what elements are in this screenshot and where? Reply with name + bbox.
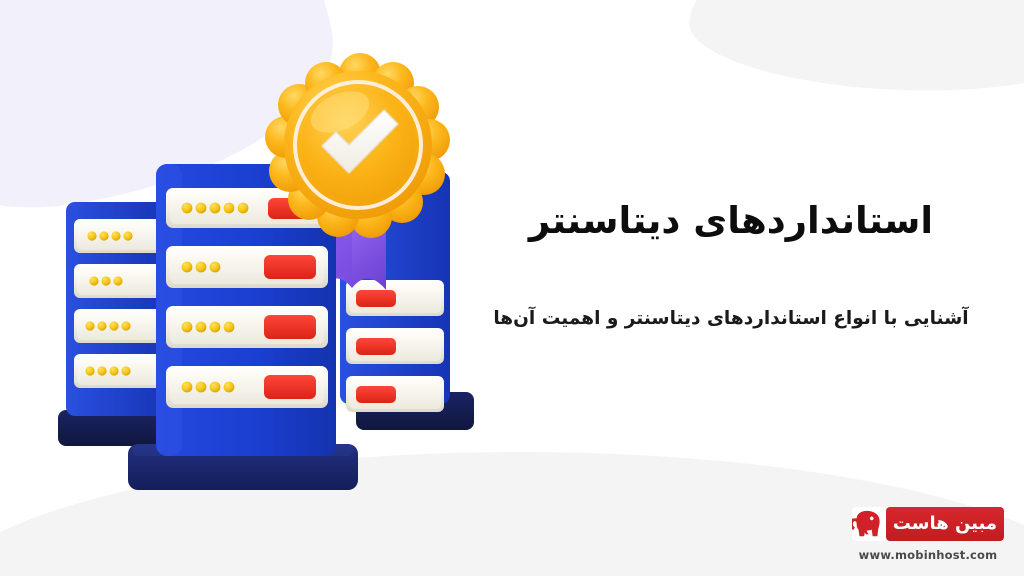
banner-canvas: استانداردهای دیتاسنتر آشنایی با انواع اس… bbox=[0, 0, 1024, 576]
page-subtitle: آشنایی با انواع استانداردهای دیتاسنتر و … bbox=[466, 304, 996, 334]
headline-block: استانداردهای دیتاسنتر آشنایی با انواع اس… bbox=[466, 196, 996, 334]
brand-name-plate: مبین هاست bbox=[886, 507, 1004, 541]
elephant-icon bbox=[852, 507, 886, 541]
rack-unit bbox=[166, 246, 328, 288]
rack-unit bbox=[166, 306, 328, 348]
brand-url[interactable]: www.mobinhost.com bbox=[852, 548, 1004, 562]
page-title: استانداردهای دیتاسنتر bbox=[466, 196, 996, 246]
top-right-gray-blob bbox=[686, 0, 1024, 101]
brand-plate[interactable]: مبین هاست bbox=[852, 507, 1004, 541]
rack-unit bbox=[166, 366, 328, 408]
datacenter-servers-illustration bbox=[56, 52, 476, 522]
brand-lockup[interactable]: مبین هاست www.mobinhost.com bbox=[852, 507, 1004, 562]
brand-name: مبین هاست bbox=[893, 515, 997, 533]
